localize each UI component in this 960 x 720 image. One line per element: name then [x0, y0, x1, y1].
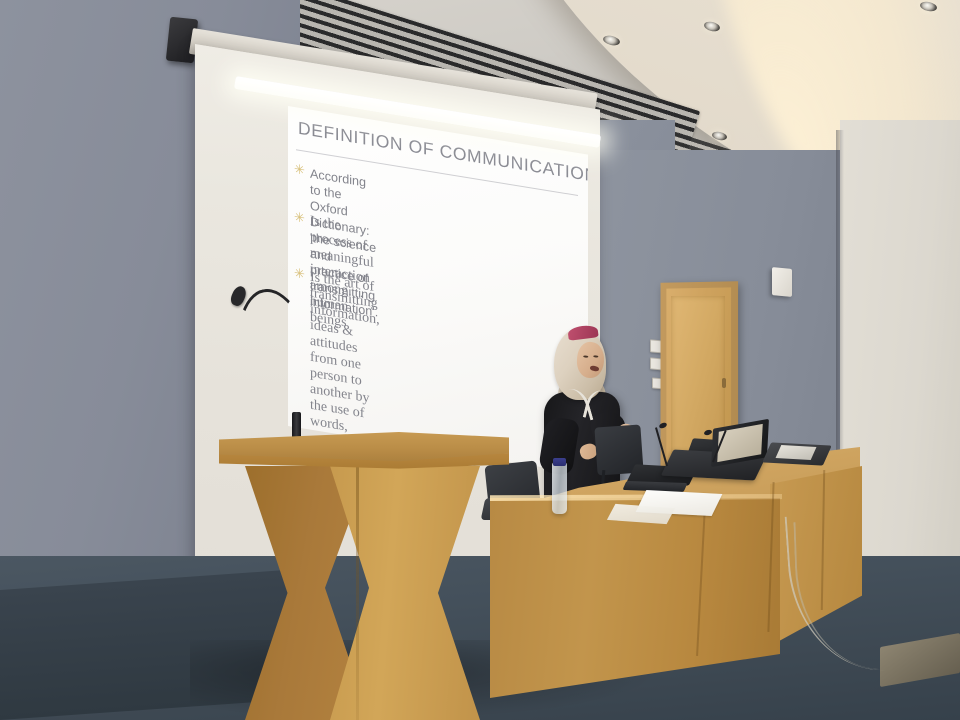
- podium-microphone-base: [292, 412, 301, 438]
- bullet-marker-icon: ✳: [294, 268, 303, 278]
- lectern-seam: [356, 466, 359, 720]
- bottle-cap[interactable]: [553, 458, 566, 466]
- water-bottle[interactable]: [552, 462, 567, 514]
- door-handle-icon[interactable]: [722, 378, 726, 388]
- wall-speaker-icon: [772, 267, 792, 297]
- eye: [593, 355, 598, 357]
- eye: [583, 355, 588, 357]
- bullet-marker-icon: ✳: [294, 164, 303, 174]
- bullet-marker-icon: ✳: [294, 212, 303, 222]
- bullet-line: attitudes from one person to another by …: [310, 334, 380, 425]
- av-equipment-panel: [776, 445, 817, 460]
- lecture-hall-photo: DEFINITION OF COMMUNICATION ✳ According …: [0, 0, 960, 720]
- bullet-line: Is the art of transmitting information, …: [310, 270, 380, 345]
